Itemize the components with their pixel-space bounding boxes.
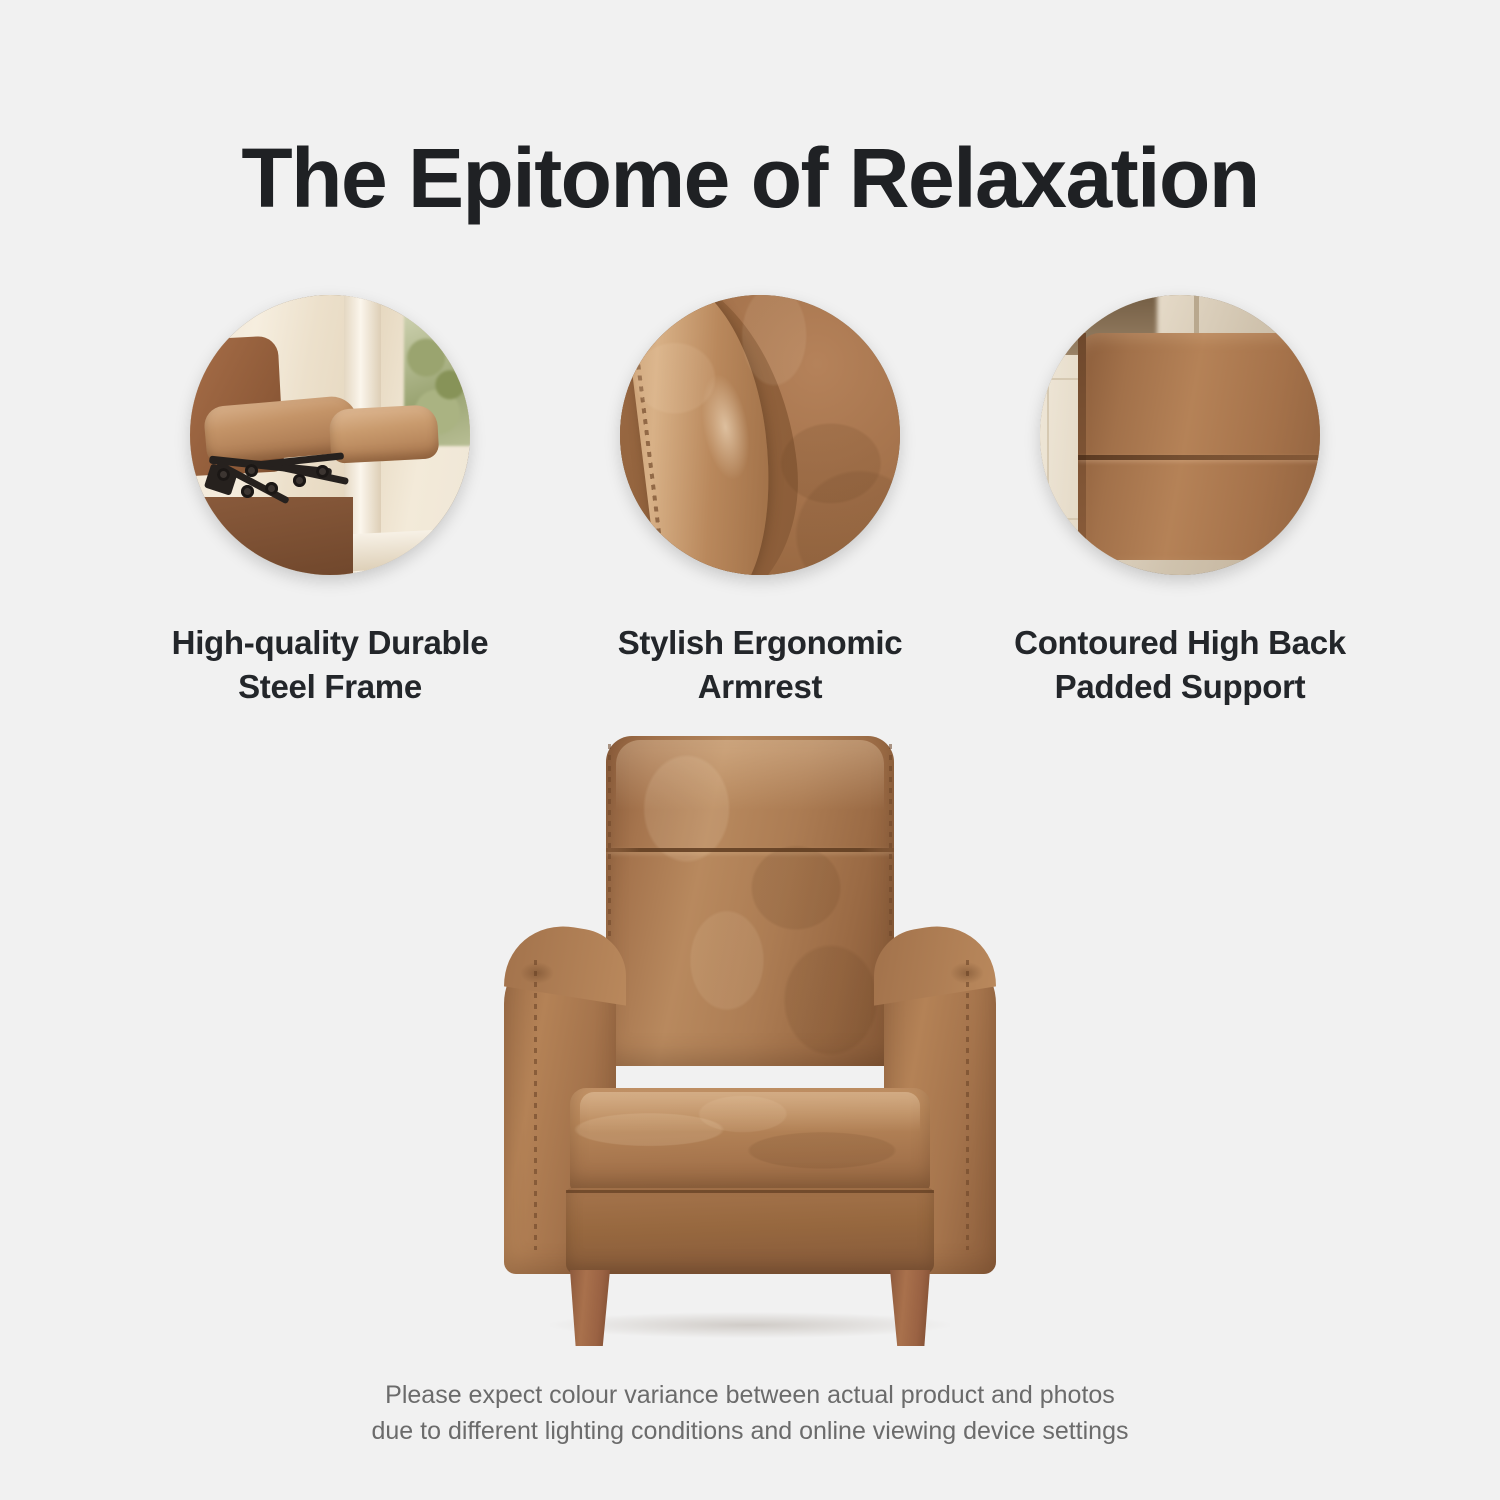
feature-item-high-back: Contoured High Back Padded Support <box>970 295 1390 708</box>
feature-label-1: Stylish Ergonomic Armrest <box>550 621 970 708</box>
feature-label-1-line1: Stylish Ergonomic <box>618 624 903 661</box>
recliner-chair-front-photo <box>430 730 1070 1350</box>
page-title: The Epitome of Relaxation <box>0 133 1500 224</box>
steel-frame-mechanism-photo <box>190 295 470 575</box>
feature-label-0-line2: Steel Frame <box>238 668 422 705</box>
feature-label-0: High-quality Durable Steel Frame <box>120 621 540 708</box>
feature-label-2-line2: Padded Support <box>1055 668 1306 705</box>
colour-variance-disclaimer: Please expect colour variance between ac… <box>0 1378 1500 1449</box>
disclaimer-line-1: Please expect colour variance between ac… <box>0 1378 1500 1414</box>
ergonomic-armrest-photo <box>620 295 900 575</box>
backrest-seam <box>606 848 894 852</box>
steel-mechanism-icon <box>205 449 404 523</box>
chair-base <box>566 1188 934 1274</box>
feature-item-armrest: Stylish Ergonomic Armrest <box>550 295 970 708</box>
feature-image-wrap-0 <box>190 295 470 575</box>
feature-image-wrap-1 <box>620 295 900 575</box>
feature-item-steel-frame: High-quality Durable Steel Frame <box>120 295 540 708</box>
infographic-page: The Epitome of Relaxation <box>0 0 1500 1500</box>
feature-label-2: Contoured High Back Padded Support <box>970 621 1390 708</box>
feature-row: High-quality Durable Steel Frame <box>0 295 1500 715</box>
feature-label-1-line2: Armrest <box>698 668 822 705</box>
feature-label-2-line1: Contoured High Back <box>1014 624 1346 661</box>
feature-image-wrap-2 <box>1040 295 1320 575</box>
disclaimer-line-2: due to different lighting conditions and… <box>0 1414 1500 1450</box>
high-back-cushion-photo <box>1040 295 1320 575</box>
feature-label-0-line1: High-quality Durable <box>172 624 489 661</box>
